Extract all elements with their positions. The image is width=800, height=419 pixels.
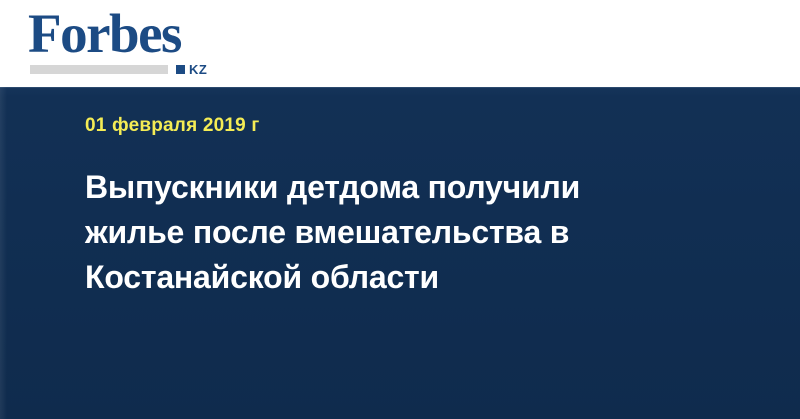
- forbes-wordmark: Forbes: [28, 6, 181, 61]
- site-header: Forbes KZ: [0, 0, 800, 87]
- article-date: 01 февраля 2019 г: [85, 115, 260, 137]
- hero-left-edge-highlight: [0, 87, 7, 419]
- article-hero: 01 февраля 2019 г Выпускники детдома пол…: [0, 87, 800, 419]
- logo-blue-square-icon: [176, 65, 185, 74]
- logo-kz-label: KZ: [189, 63, 207, 76]
- logo-grey-bar: [30, 65, 168, 74]
- article-card: Forbes KZ 01 февраля 2019 г Выпускники д…: [0, 0, 800, 419]
- logo-underline-row: KZ: [30, 64, 235, 76]
- hero-content: 01 февраля 2019 г Выпускники детдома пол…: [85, 87, 710, 419]
- article-headline[interactable]: Выпускники детдома получили жилье после …: [85, 165, 685, 300]
- forbes-kz-logo[interactable]: Forbes KZ: [28, 8, 238, 80]
